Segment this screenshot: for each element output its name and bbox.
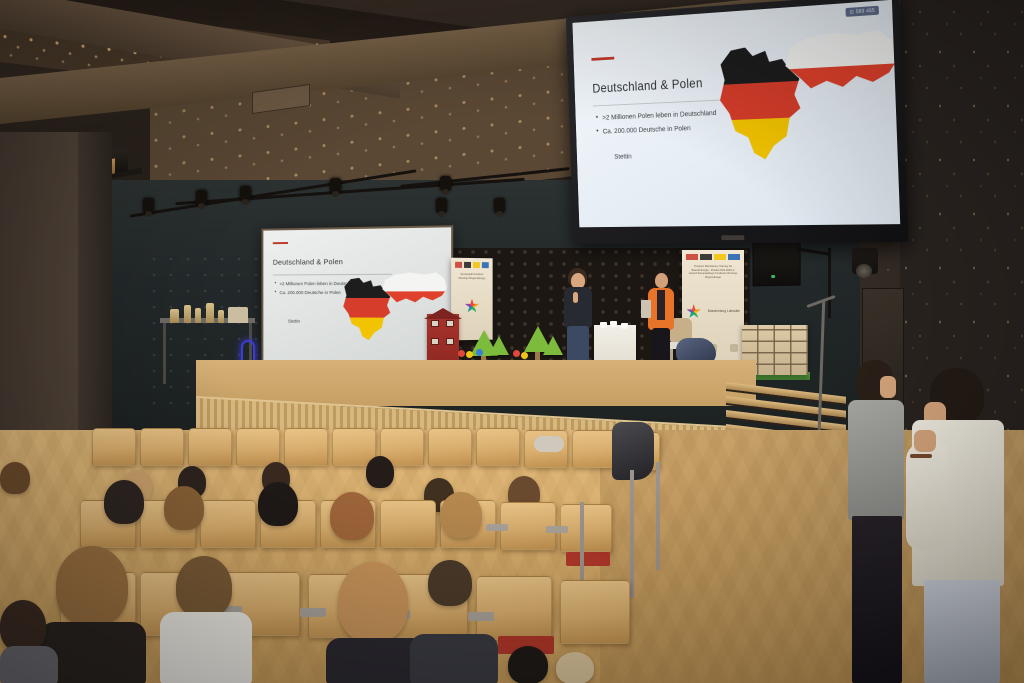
microphone-icon — [573, 292, 578, 303]
spotlight — [143, 198, 154, 213]
person-face — [880, 376, 896, 398]
presenter-torso — [564, 287, 592, 328]
paper-flower — [458, 350, 465, 357]
person-shirt — [848, 400, 904, 520]
banner-logo-text: Brandenburg Lubuskie — [708, 309, 740, 313]
wrist-band — [910, 454, 932, 458]
auditorium-scene: Deutschland & Polen >2 Millionen Polen l… — [0, 0, 1024, 683]
star-logo-icon — [465, 299, 480, 314]
badge-icon: ⊡ — [850, 9, 854, 15]
flag-stripe — [714, 254, 726, 260]
audience-shoulders — [160, 612, 252, 683]
audience-head — [440, 492, 482, 538]
seat-cushion — [566, 552, 610, 566]
cup — [621, 323, 628, 329]
wall-mounted-display[interactable]: ⊡ 589 465 Deutschland & Polen >2 Million… — [566, 0, 909, 244]
person-jeans — [924, 580, 1000, 683]
projection-screen: Deutschland & Polen >2 Millionen Polen l… — [261, 225, 453, 373]
table-leg — [163, 323, 166, 384]
house-window — [446, 320, 454, 327]
seat-armrest — [300, 608, 326, 617]
trophy-plaque — [228, 307, 248, 323]
partner-logo-icon — [730, 344, 738, 352]
flag-stripe — [464, 262, 471, 268]
stage-platform-top — [196, 360, 756, 406]
banner-body-text: Europejski Fundusz Rozwoju Regionalnego — [456, 273, 488, 280]
slide-accent-bar — [591, 57, 614, 61]
paper-flower — [476, 349, 483, 356]
audience-head — [176, 556, 232, 618]
person-trousers — [852, 516, 902, 683]
structural-column — [0, 132, 112, 462]
audience-head — [0, 600, 46, 652]
column-face — [0, 132, 78, 462]
banner-body-text: Program Wspolpracy Interreg VA Brandenbu… — [687, 265, 739, 280]
spotlight — [196, 190, 207, 205]
clipboard — [641, 300, 651, 318]
spotlight — [494, 198, 505, 213]
paper-flower — [466, 351, 473, 358]
trophy — [170, 309, 179, 323]
trophy — [206, 303, 214, 323]
audience-head — [338, 562, 408, 642]
seat-support-leg — [630, 470, 634, 598]
draped-cloth — [534, 436, 564, 452]
auditorium-seat[interactable] — [92, 428, 136, 466]
spotlight — [436, 198, 447, 213]
flag-stripe — [473, 262, 480, 268]
audience-head — [164, 486, 204, 530]
auditorium-seat[interactable] — [572, 430, 616, 468]
projected-slide-subnote: Stettin — [288, 319, 300, 324]
audience-head — [428, 560, 472, 606]
audience-head — [330, 492, 374, 540]
house-window — [446, 338, 454, 345]
germany-poland-map — [699, 22, 897, 167]
audience-head — [556, 652, 594, 683]
trophy — [218, 310, 224, 323]
audience-head — [366, 456, 394, 488]
house-window — [431, 338, 439, 345]
auditorium-seat[interactable] — [140, 428, 184, 466]
paper-tree-prop — [489, 336, 509, 355]
seat-armrest — [486, 524, 508, 531]
spotlight — [330, 178, 341, 193]
display-screen: ⊡ 589 465 Deutschland & Polen >2 Million… — [572, 0, 900, 227]
seat-armrest — [468, 612, 494, 621]
slide-accent-bar — [273, 242, 288, 244]
presenter-head — [655, 273, 668, 288]
flag-stripe — [728, 254, 740, 260]
badge-text: 589 465 — [856, 7, 875, 14]
moving-head-light — [852, 248, 878, 274]
audience-head — [104, 480, 144, 524]
audience-shoulders — [410, 634, 498, 683]
audience-head — [508, 646, 548, 683]
display-brand-logo — [721, 235, 744, 240]
seat-armrest — [546, 526, 568, 533]
trophy — [184, 305, 191, 323]
cup — [600, 322, 607, 328]
star-logo-icon — [686, 304, 701, 319]
banner-flag-row — [455, 262, 489, 268]
slide-title: Deutschland & Polen — [592, 76, 703, 96]
poland-map-shape — [782, 27, 900, 118]
trophy — [195, 308, 201, 323]
flag-stripe — [700, 254, 712, 260]
person-raised-arm — [906, 442, 948, 550]
flag-stripe — [482, 262, 489, 268]
auditorium-seat[interactable] — [236, 428, 280, 466]
spotlight — [240, 186, 251, 201]
house-window — [431, 320, 439, 327]
spotlight — [440, 176, 451, 191]
paper-flower — [521, 352, 528, 359]
status-badge: ⊡ 589 465 — [846, 6, 879, 17]
presenter-inner-top — [657, 290, 665, 320]
audience-head — [56, 546, 128, 626]
auditorium-seat[interactable] — [284, 428, 328, 466]
banner-flag-row — [686, 254, 740, 260]
flag-stripe — [686, 254, 698, 260]
standing-person-white-shirt — [906, 368, 1006, 683]
audience-head — [0, 462, 30, 494]
audience-head — [258, 482, 298, 526]
speaker-mount-pole — [828, 248, 831, 318]
auditorium-seat[interactable] — [560, 580, 630, 644]
projected-slide-title: Deutschland & Polen — [273, 257, 343, 267]
paper-flower — [513, 350, 520, 357]
cup — [610, 321, 617, 327]
auditorium-seat[interactable] — [476, 428, 520, 466]
house-roof — [424, 308, 462, 319]
auditorium-seat[interactable] — [188, 428, 232, 466]
audience-shoulders — [0, 646, 58, 683]
slide-subnote: Stettin — [614, 152, 632, 161]
person-hand — [914, 430, 936, 452]
auditorium-seat[interactable] — [200, 500, 256, 548]
seat-support-leg — [656, 462, 660, 570]
auditorium-seat[interactable] — [380, 500, 436, 548]
auditorium-seat[interactable] — [476, 576, 552, 640]
flag-stripe — [455, 262, 462, 268]
standing-person-grey-shirt — [840, 360, 912, 683]
auditorium-seat[interactable] — [428, 428, 472, 466]
display-bezel: ⊡ 589 465 Deutschland & Polen >2 Million… — [566, 0, 909, 244]
